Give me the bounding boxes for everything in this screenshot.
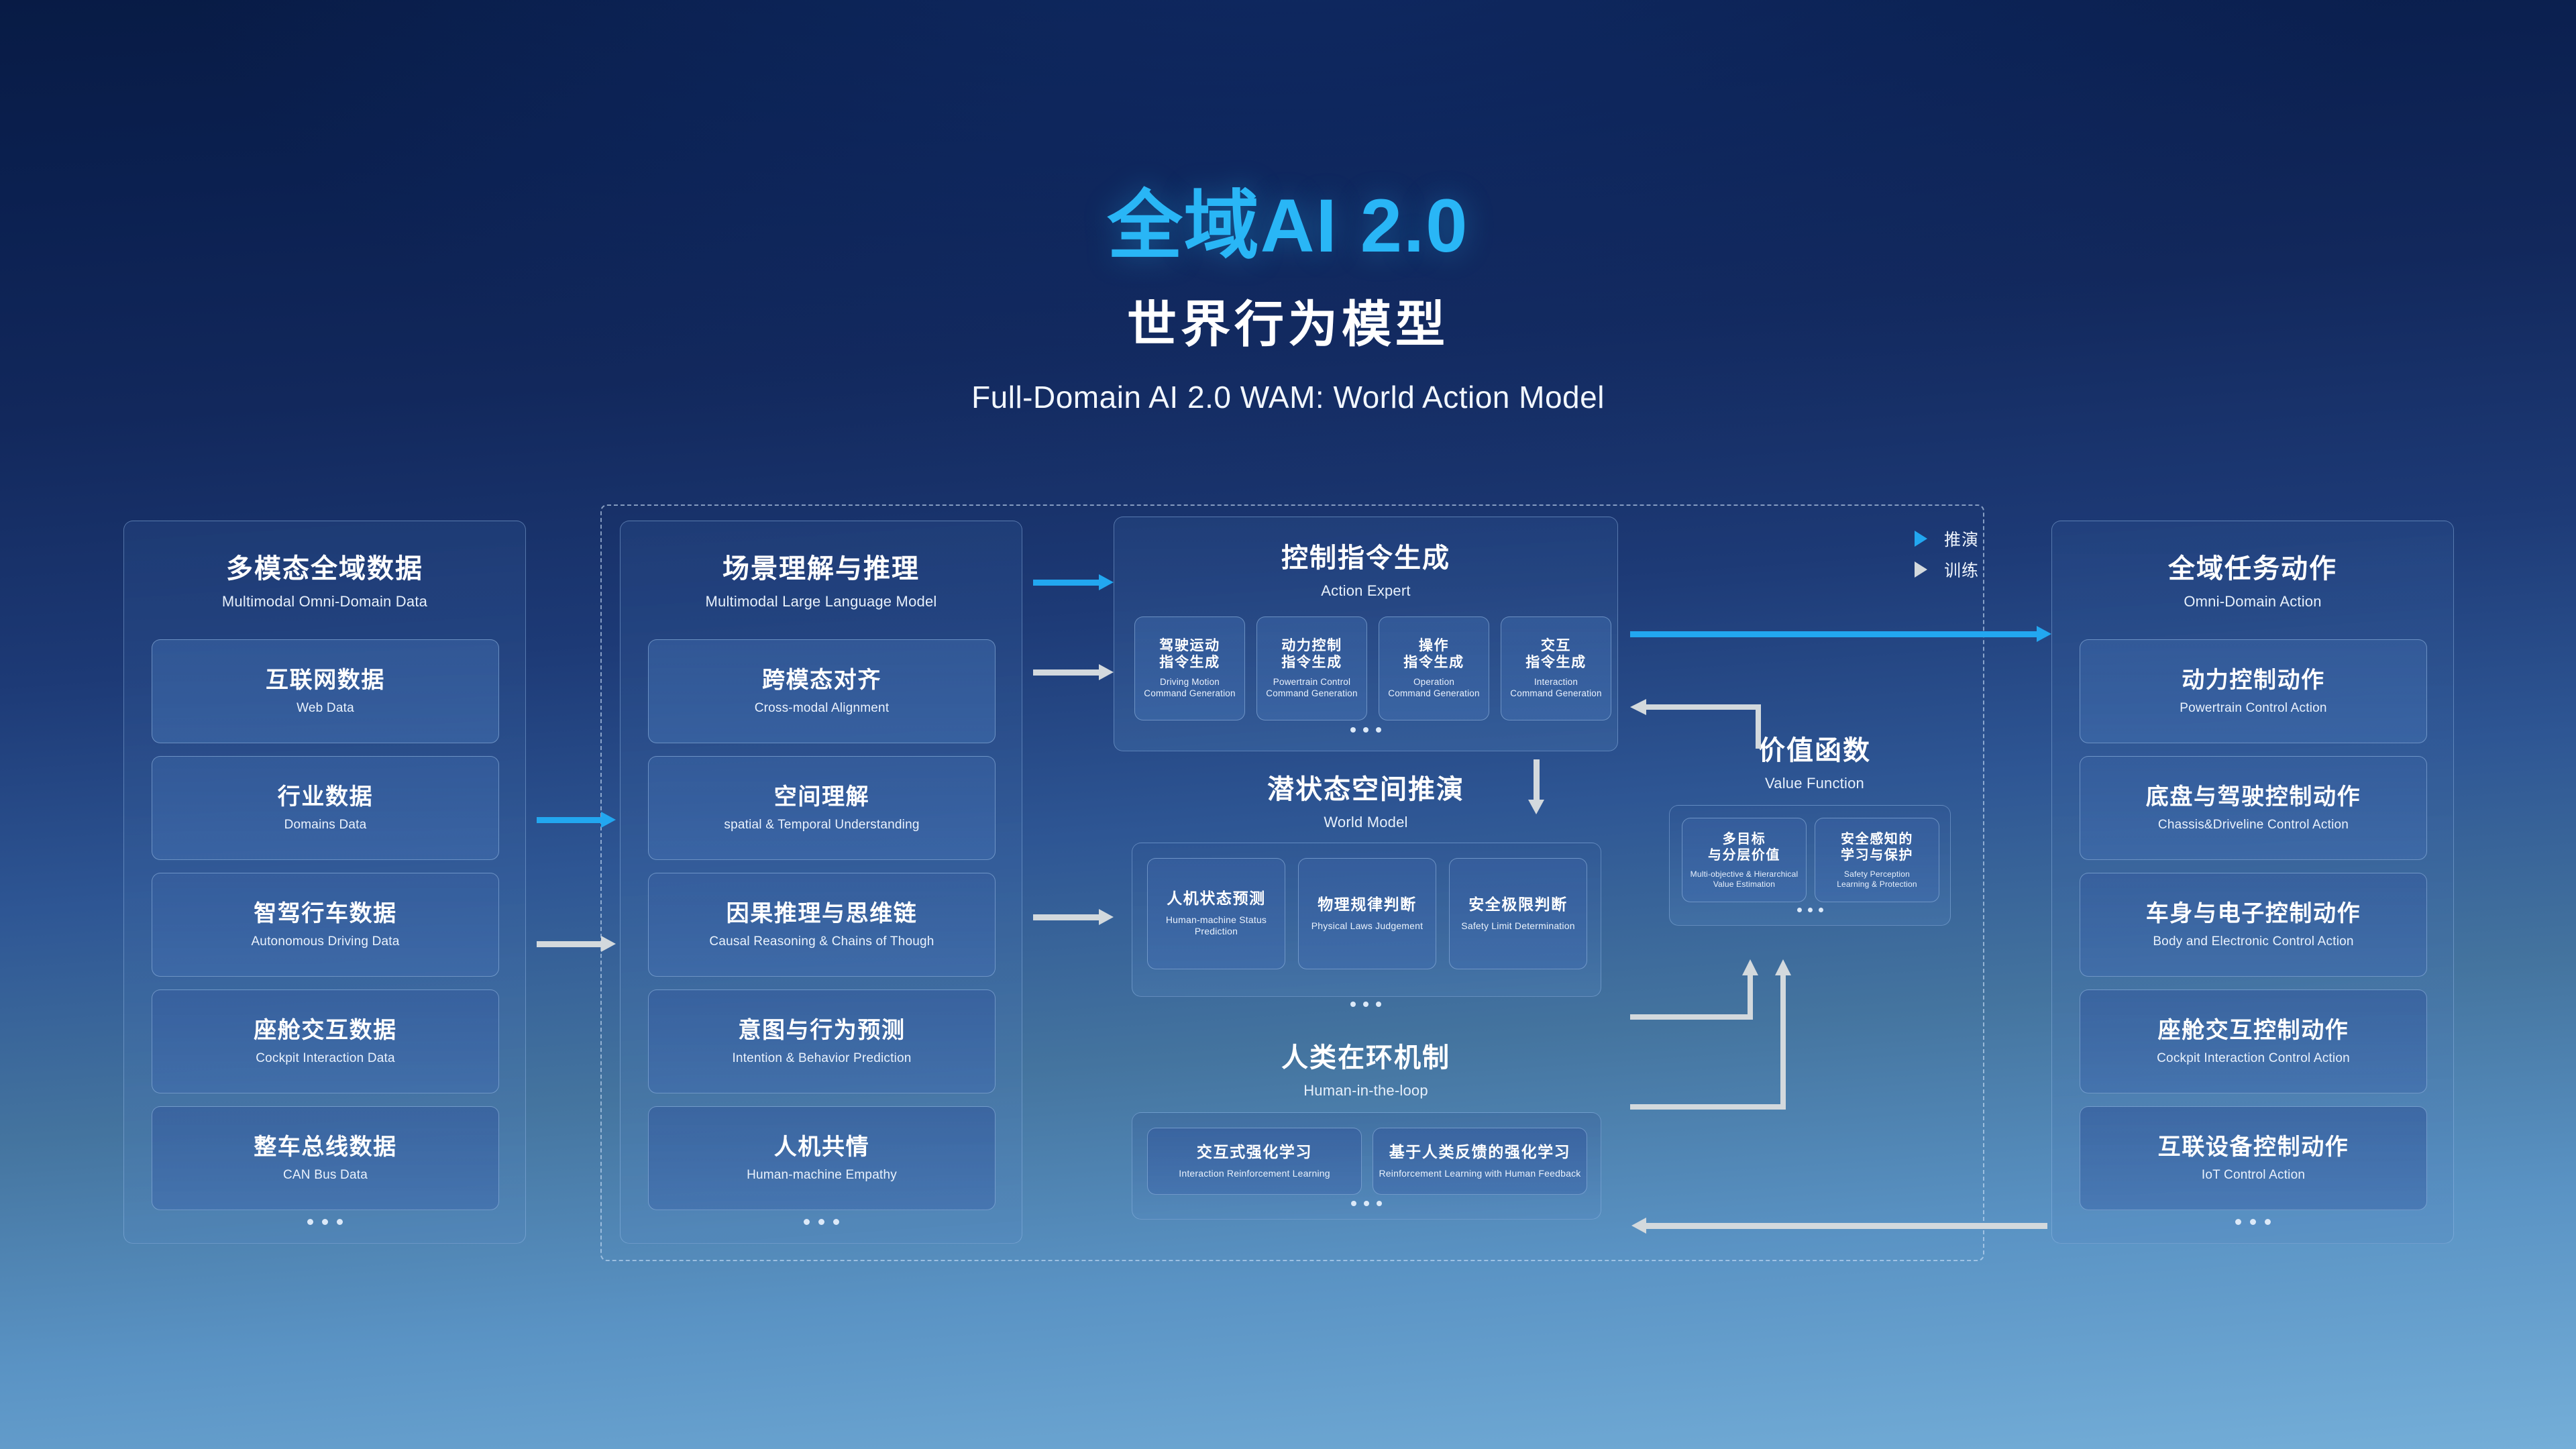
card-title-en: Causal Reasoning & Chains of Though bbox=[709, 934, 934, 950]
arrow-human-loop-to-value-function bbox=[1630, 961, 1798, 1110]
card-title-cn: 跨模态对齐 bbox=[762, 667, 881, 694]
arrow-action-expert-to-actions-inference bbox=[1630, 631, 2038, 637]
card-chassis-driveline-control-action[interactable]: 底盘与驾驶控制动作 Chassis&Driveline Control Acti… bbox=[2080, 756, 2427, 860]
card-title-en: Cockpit Interaction Data bbox=[256, 1051, 395, 1067]
card-title-cn: 人机共情 bbox=[774, 1134, 869, 1161]
panel-title-en: Multimodal Large Language Model bbox=[621, 593, 1022, 610]
card-title-cn: 多目标 与分层价值 bbox=[1708, 831, 1780, 863]
card-title-cn: 动力控制动作 bbox=[2182, 667, 2325, 694]
arrow-mllm-to-world-model-training bbox=[1033, 914, 1100, 920]
card-title-en: Driving Motion Command Generation bbox=[1144, 677, 1235, 700]
card-human-machine-empathy[interactable]: 人机共情 Human-machine Empathy bbox=[648, 1106, 996, 1210]
card-powertrain-control-action[interactable]: 动力控制动作 Powertrain Control Action bbox=[2080, 639, 2427, 743]
more-indicator bbox=[1114, 1002, 1618, 1007]
panel-value-function: 多目标 与分层价值 Multi-objective & Hierarchical… bbox=[1669, 805, 1951, 926]
panel-action-expert: 控制指令生成 Action Expert 驾驶运动 指令生成 Driving M… bbox=[1114, 517, 1618, 751]
card-title-cn: 智驾行车数据 bbox=[254, 900, 397, 928]
card-title-cn: 座舱交互控制动作 bbox=[2158, 1017, 2349, 1044]
card-title-en: Human-machine Status Prediction bbox=[1148, 914, 1285, 938]
panel-title-en: Omni-Domain Action bbox=[2052, 593, 2453, 610]
card-title-cn: 座舱交互数据 bbox=[254, 1017, 397, 1044]
card-title-cn: 安全感知的 学习与保护 bbox=[1841, 831, 1913, 863]
panel-title-cn: 多模态全域数据 bbox=[124, 547, 525, 586]
card-title-en: Cross-modal Alignment bbox=[755, 700, 890, 716]
panel-title-en: Action Expert bbox=[1114, 582, 1617, 600]
card-title-cn: 车身与电子控制动作 bbox=[2146, 900, 2361, 928]
panel-title-cn: 全域任务动作 bbox=[2052, 547, 2453, 586]
card-title-en: Human-machine Empathy bbox=[747, 1167, 897, 1183]
page-header: 全域AI 2.0 世界行为模型 Full-Domain AI 2.0 WAM: … bbox=[0, 0, 2576, 415]
card-title-en: Web Data bbox=[297, 700, 354, 716]
card-title-cn: 物理规律判断 bbox=[1318, 896, 1417, 914]
more-indicator bbox=[1670, 908, 1950, 912]
card-multi-objective-value[interactable]: 多目标 与分层价值 Multi-objective & Hierarchical… bbox=[1682, 818, 1807, 902]
arrow-mllm-to-action-expert-inference bbox=[1033, 580, 1100, 586]
card-can-bus-data[interactable]: 整车总线数据 CAN Bus Data bbox=[152, 1106, 499, 1210]
more-indicator bbox=[2052, 1219, 2453, 1225]
legend-label-training: 训练 bbox=[1944, 557, 1979, 582]
card-title-cn: 互联网数据 bbox=[266, 667, 385, 694]
panel-header-mllm: 场景理解与推理 Multimodal Large Language Model bbox=[621, 547, 1022, 610]
card-title-en: Powertrain Control Command Generation bbox=[1266, 677, 1357, 700]
arrow-mllm-to-action-expert-training bbox=[1033, 669, 1100, 676]
training-arrow-icon bbox=[1851, 568, 1916, 572]
card-title-en: Domains Data bbox=[284, 817, 367, 833]
card-driving-motion-command[interactable]: 驾驶运动 指令生成 Driving Motion Command Generat… bbox=[1134, 616, 1245, 720]
card-domains-data[interactable]: 行业数据 Domains Data bbox=[152, 756, 499, 860]
card-interaction-command[interactable]: 交互 指令生成 Interaction Command Generation bbox=[1501, 616, 1611, 720]
card-safety-limit-determination[interactable]: 安全极限判断 Safety Limit Determination bbox=[1449, 858, 1587, 969]
group-value-function: 价值函数 Value Function 多目标 与分层价值 Multi-obje… bbox=[1664, 724, 1966, 946]
inference-arrow-icon bbox=[1851, 537, 1916, 541]
card-title-cn: 基于人类反馈的强化学习 bbox=[1389, 1143, 1571, 1162]
arrow-actions-to-human-loop-feedback bbox=[1645, 1223, 2047, 1229]
card-spatial-temporal-understanding[interactable]: 空间理解 spatial & Temporal Understanding bbox=[648, 756, 996, 860]
card-intention-behavior-prediction[interactable]: 意图与行为预测 Intention & Behavior Prediction bbox=[648, 989, 996, 1093]
card-safety-perception-learning[interactable]: 安全感知的 学习与保护 Safety Perception Learning &… bbox=[1815, 818, 1939, 902]
arrow-data-to-mllm-training bbox=[537, 941, 602, 947]
card-title-cn: 底盘与驾驶控制动作 bbox=[2146, 784, 2361, 811]
card-title-cn: 人机状态预测 bbox=[1167, 890, 1266, 908]
panel-human-loop: 交互式强化学习 Interaction Reinforcement Learni… bbox=[1132, 1112, 1601, 1220]
panel-header-action: 全域任务动作 Omni-Domain Action bbox=[2052, 547, 2453, 610]
card-title-en: CAN Bus Data bbox=[283, 1167, 368, 1183]
card-title-en: Chassis&Driveline Control Action bbox=[2158, 817, 2349, 833]
card-title-en: Cockpit Interaction Control Action bbox=[2157, 1051, 2350, 1067]
panel-header-data: 多模态全域数据 Multimodal Omni-Domain Data bbox=[124, 547, 525, 610]
card-title-en: Body and Electronic Control Action bbox=[2153, 934, 2353, 950]
panel-title-en: Human-in-the-loop bbox=[1114, 1082, 1618, 1099]
panel-scene-understanding: 场景理解与推理 Multimodal Large Language Model … bbox=[620, 521, 1022, 1244]
panel-title-cn: 人类在环机制 bbox=[1114, 1036, 1618, 1075]
card-cockpit-interaction-data[interactable]: 座舱交互数据 Cockpit Interaction Data bbox=[152, 989, 499, 1093]
panel-header-action-expert: 控制指令生成 Action Expert bbox=[1114, 536, 1617, 600]
card-causal-reasoning[interactable]: 因果推理与思维链 Causal Reasoning & Chains of Th… bbox=[648, 873, 996, 977]
card-title-en: Physical Laws Judgement bbox=[1311, 920, 1423, 932]
card-iot-control-action[interactable]: 互联设备控制动作 IoT Control Action bbox=[2080, 1106, 2427, 1210]
card-title-cn: 互联设备控制动作 bbox=[2158, 1134, 2349, 1161]
card-title-cn: 因果推理与思维链 bbox=[727, 900, 918, 928]
panel-title-en: Value Function bbox=[1664, 775, 1966, 792]
card-title-cn: 动力控制 指令生成 bbox=[1281, 637, 1342, 671]
card-title-en: Autonomous Driving Data bbox=[251, 934, 399, 950]
card-title-en: Reinforcement Learning with Human Feedba… bbox=[1379, 1168, 1581, 1180]
page-title: 全域AI 2.0 bbox=[0, 186, 2576, 266]
card-title-cn: 行业数据 bbox=[278, 784, 373, 811]
group-world-model: 潜状态空间推演 World Model 人机状态预测 Human-machine… bbox=[1114, 763, 1618, 998]
panel-multimodal-data: 多模态全域数据 Multimodal Omni-Domain Data 互联网数… bbox=[123, 521, 526, 1244]
more-indicator bbox=[1132, 1201, 1601, 1206]
card-body-electronic-control-action[interactable]: 车身与电子控制动作 Body and Electronic Control Ac… bbox=[2080, 873, 2427, 977]
card-title-en: Operation Command Generation bbox=[1388, 677, 1479, 700]
card-title-cn: 交互式强化学习 bbox=[1197, 1143, 1312, 1162]
panel-title-en: World Model bbox=[1114, 814, 1618, 831]
card-title-en: Intention & Behavior Prediction bbox=[732, 1051, 911, 1067]
panel-omni-domain-action: 全域任务动作 Omni-Domain Action 动力控制动作 Powertr… bbox=[2051, 521, 2454, 1244]
card-operation-command[interactable]: 操作 指令生成 Operation Command Generation bbox=[1379, 616, 1489, 720]
card-autonomous-driving-data[interactable]: 智驾行车数据 Autonomous Driving Data bbox=[152, 873, 499, 977]
panel-title-en: Multimodal Omni-Domain Data bbox=[124, 593, 525, 610]
card-title-en: Interaction Command Generation bbox=[1510, 677, 1601, 700]
legend: 推演 训练 bbox=[1851, 523, 1986, 585]
card-title-cn: 意图与行为预测 bbox=[738, 1017, 905, 1044]
card-web-data[interactable]: 互联网数据 Web Data bbox=[152, 639, 499, 743]
card-title-cn: 操作 指令生成 bbox=[1403, 637, 1464, 671]
legend-label-inference: 推演 bbox=[1944, 527, 1979, 551]
panel-title-cn: 控制指令生成 bbox=[1114, 536, 1617, 575]
card-title-cn: 交互 指令生成 bbox=[1525, 637, 1586, 671]
card-powertrain-control-command[interactable]: 动力控制 指令生成 Powertrain Control Command Gen… bbox=[1256, 616, 1367, 720]
more-indicator bbox=[1114, 727, 1617, 733]
panel-header-human-loop: 人类在环机制 Human-in-the-loop bbox=[1114, 1036, 1618, 1099]
card-title-cn: 空间理解 bbox=[774, 784, 869, 811]
legend-item-inference: 推演 bbox=[1851, 523, 1986, 554]
card-physical-laws-judgement[interactable]: 物理规律判断 Physical Laws Judgement bbox=[1298, 858, 1436, 969]
card-cockpit-interaction-control-action[interactable]: 座舱交互控制动作 Cockpit Interaction Control Act… bbox=[2080, 989, 2427, 1093]
legend-item-training: 训练 bbox=[1851, 554, 1986, 585]
card-cross-modal-alignment[interactable]: 跨模态对齐 Cross-modal Alignment bbox=[648, 639, 996, 743]
card-rlhf[interactable]: 基于人类反馈的强化学习 Reinforcement Learning with … bbox=[1373, 1128, 1587, 1195]
card-title-en: Multi-objective & Hierarchical Value Est… bbox=[1690, 869, 1799, 890]
card-title-en: Powertrain Control Action bbox=[2180, 700, 2326, 716]
card-title-en: Interaction Reinforcement Learning bbox=[1179, 1168, 1330, 1180]
more-indicator bbox=[124, 1219, 525, 1225]
group-human-in-the-loop: 人类在环机制 Human-in-the-loop 交互式强化学习 Interac… bbox=[1114, 1033, 1618, 1254]
panel-title-cn: 场景理解与推理 bbox=[621, 547, 1022, 586]
card-title-en: spatial & Temporal Understanding bbox=[724, 817, 919, 833]
card-human-machine-status-prediction[interactable]: 人机状态预测 Human-machine Status Prediction bbox=[1147, 858, 1285, 969]
card-title-en: Safety Limit Determination bbox=[1461, 920, 1574, 932]
arrow-value-function-to-action-expert bbox=[1630, 704, 1761, 749]
card-title-cn: 安全极限判断 bbox=[1468, 896, 1568, 914]
arrow-action-expert-to-world-model bbox=[1534, 759, 1540, 801]
card-title-en: Safety Perception Learning & Protection bbox=[1837, 869, 1917, 890]
page-subtitle-en: Full-Domain AI 2.0 WAM: World Action Mod… bbox=[0, 379, 2576, 415]
card-title-cn: 整车总线数据 bbox=[254, 1134, 397, 1161]
arrow-data-to-mllm-inference bbox=[537, 817, 602, 823]
card-title-en: IoT Control Action bbox=[2202, 1167, 2305, 1183]
page-subtitle-cn: 世界行为模型 bbox=[0, 284, 2576, 356]
card-title-cn: 驾驶运动 指令生成 bbox=[1159, 637, 1220, 671]
card-interaction-reinforcement-learning[interactable]: 交互式强化学习 Interaction Reinforcement Learni… bbox=[1147, 1128, 1362, 1195]
more-indicator bbox=[621, 1219, 1022, 1225]
panel-world-model: 人机状态预测 Human-machine Status Prediction 物… bbox=[1132, 843, 1601, 997]
